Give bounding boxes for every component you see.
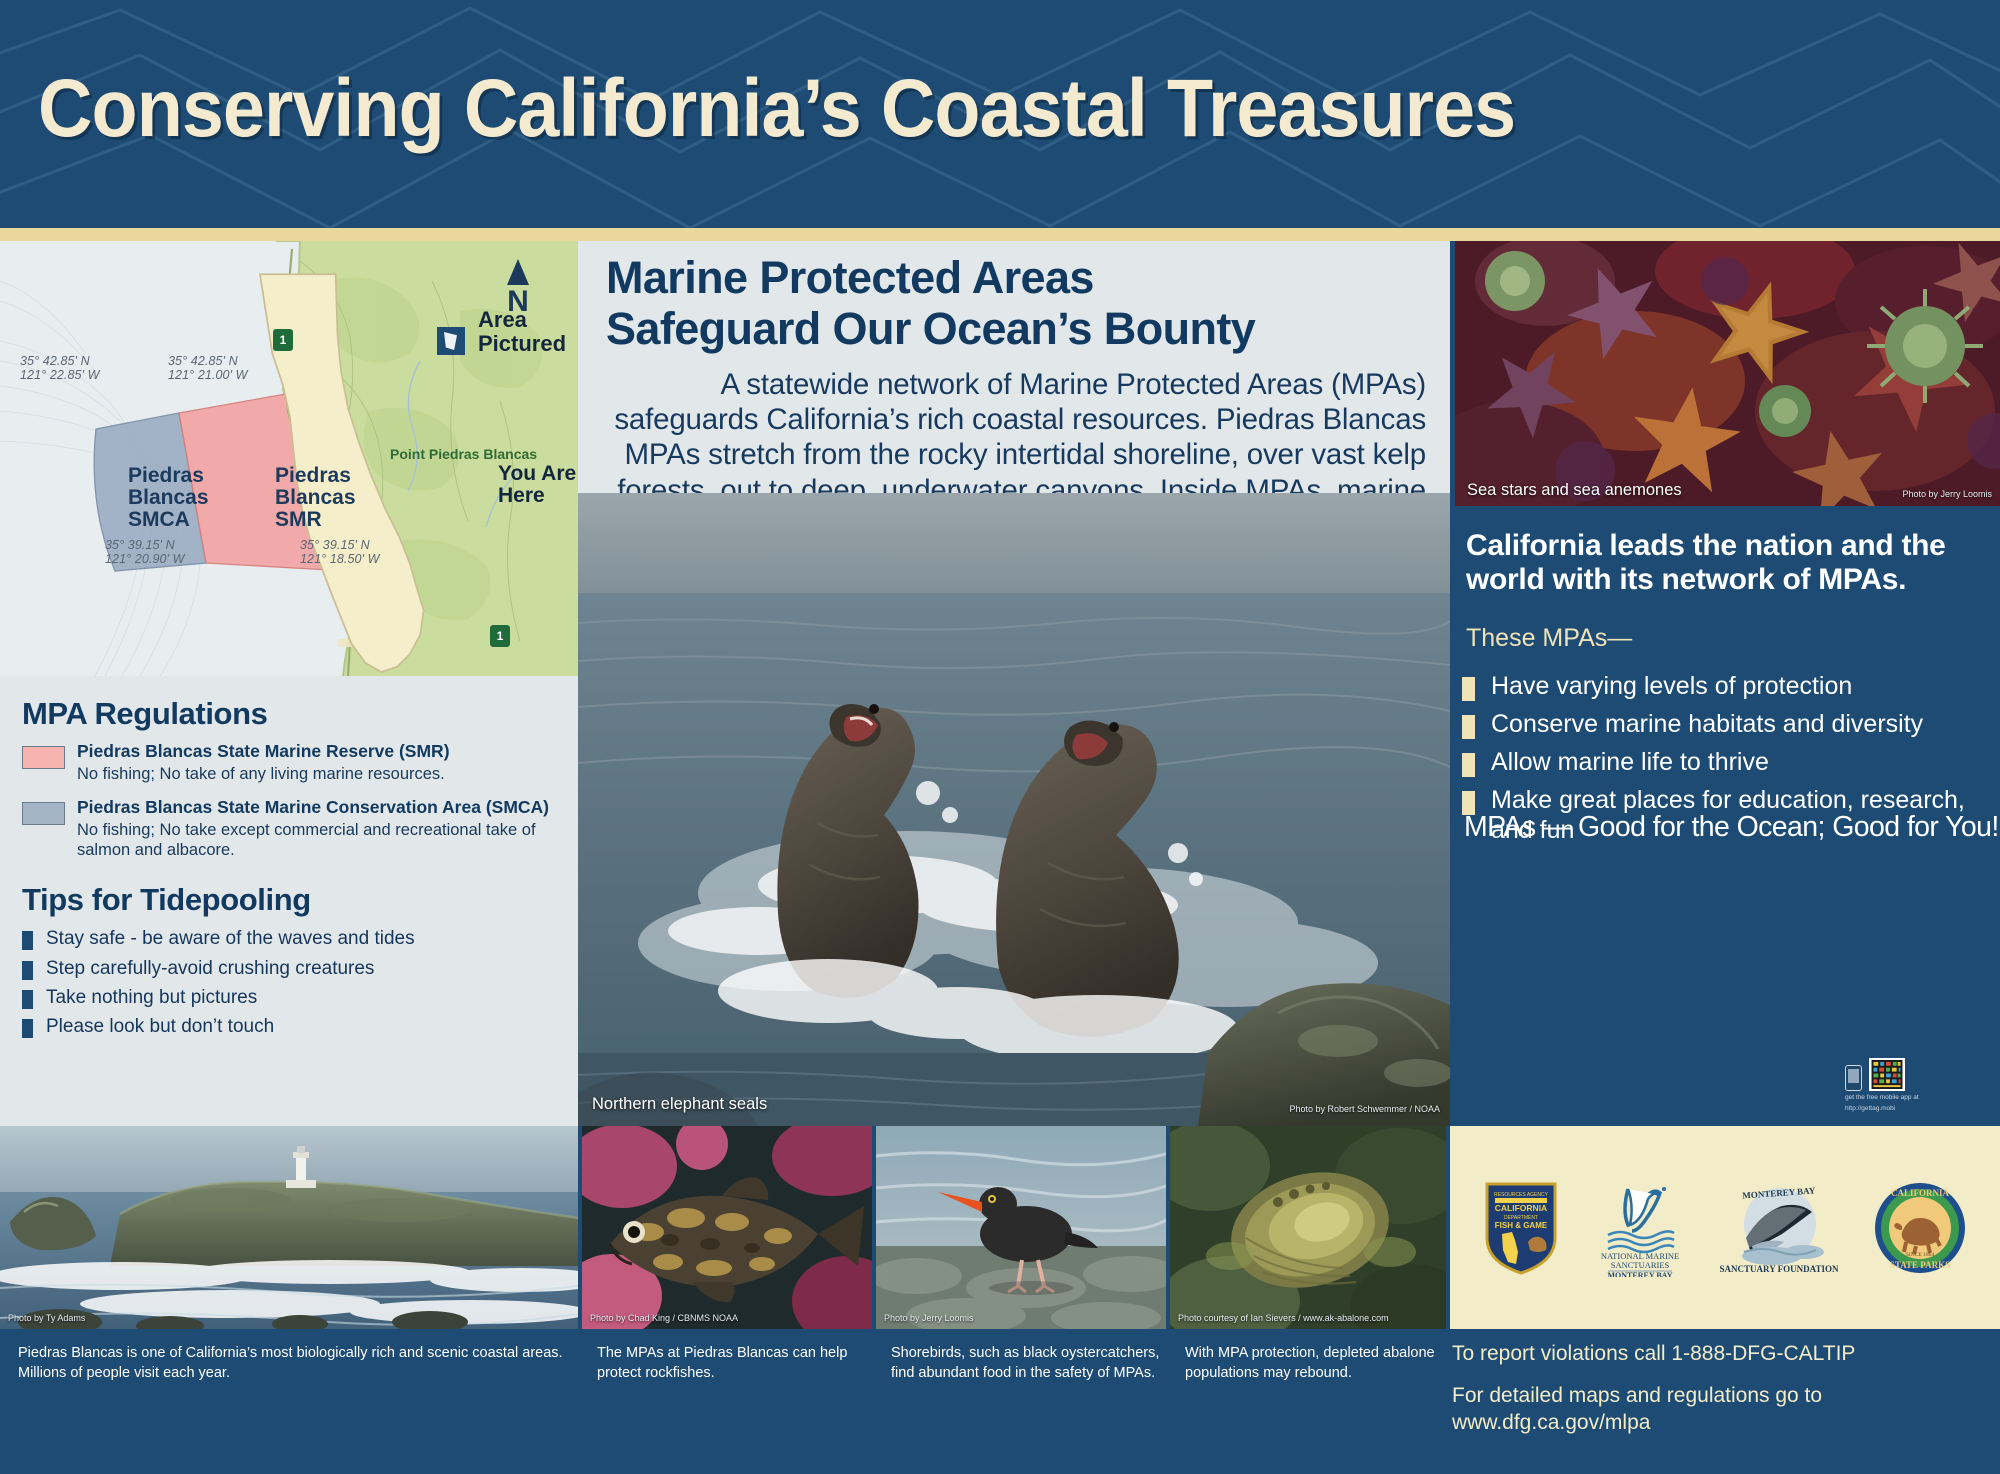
coastline-illustration [0,1126,578,1329]
legend-desc-smca: No fishing; No take except commercial an… [77,820,562,860]
interpretive-sign: Conserving California’s Coastal Treasure… [0,0,2000,1474]
strip-caption: Piedras Blancas is one of California’s m… [18,1343,578,1383]
mpa-benefit-text: Conserve marine habitats and diversity [1491,709,1923,739]
rockfish-photo: Photo by Chad King / CBNMS NOAA [582,1126,872,1329]
elephant-seals-photo: Northern elephant seals Photo by Robert … [578,493,1450,1126]
svg-text:SINCE 1864: SINCE 1864 [1906,1252,1935,1258]
highway-shield-icon: 1 [273,329,293,351]
logo-california-state-parks: CALIFORNIA STATE PARKS SINCE 1864 [1872,1180,1968,1276]
area-pictured-icon [437,327,465,355]
legend-swatch-smca [22,802,65,825]
abalone-credit: Photo courtesy of Ian Sievers / www.ak-a… [1178,1313,1389,1323]
coord-top-right: 35° 42.85' N 121° 21.00' W [168,354,248,383]
elephant-seals-caption: Northern elephant seals [592,1095,767,1114]
north-arrow-icon: N [507,259,529,317]
main-content-area: 1 1 Piedras Blancas SMCA Piedras Blancas… [0,241,2000,1126]
tip-item: Stay safe - be aware of the waves and ti… [22,927,562,950]
north-label: N [507,287,529,317]
ms-tag-qr-code[interactable] [1869,1058,1905,1091]
footer-bar: Piedras Blancas is one of California’s m… [0,1329,2000,1474]
qr-code-graphic [1871,1060,1903,1089]
coord-bottom-left: 35° 39.15' N 121° 20.90' W [105,538,185,567]
right-column: Sea stars and sea anemones Photo by Jerr… [1450,241,2000,1126]
tip-text: Stay safe - be aware of the waves and ti… [46,927,415,950]
qr-instruction-line1: get the free mobile app at [1845,1094,1985,1102]
svg-text:SANCTUARIES: SANCTUARIES [1611,1260,1670,1270]
svg-text:SANCTUARY FOUNDATION: SANCTUARY FOUNDATION [1720,1264,1838,1274]
svg-text:CALIFORNIA: CALIFORNIA [1495,1203,1547,1213]
mpa-benefit-item: Conserve marine habitats and diversity [1462,709,1990,739]
coord-top-left: 35° 42.85' N 121° 22.85' W [20,354,100,383]
location-map[interactable]: 1 1 Piedras Blancas SMCA Piedras Blancas… [0,241,578,676]
mpa-benefit-text: Allow marine life to thrive [1491,747,1769,777]
footer-website-line: For detailed maps and regulations go to … [1452,1383,1992,1436]
square-bullet-icon [1462,715,1475,739]
national-marine-sanctuaries-logo-icon: NATIONAL MARINE SANCTUARIES MONTEREY BAY [1594,1179,1686,1277]
strip-caption: The MPAs at Piedras Blancas can help pro… [597,1343,872,1383]
legend-item-smr: Piedras Blancas State Marine Reserve (SM… [22,741,562,784]
tidepooling-heading: Tips for Tidepooling [22,882,562,918]
logo-cdfg: RESOURCES AGENCY CALIFORNIA DEPARTMENT F… [1482,1180,1560,1276]
sea-stars-photo: Sea stars and sea anemones Photo by Jerr… [1455,241,2000,506]
square-bullet-icon [1462,677,1475,701]
abalone-photo: Photo courtesy of Ian Sievers / www.ak-a… [1170,1126,1446,1329]
elephant-seals-credit: Photo by Robert Schwemmer / NOAA [1289,1104,1440,1114]
svg-text:CALIFORNIA: CALIFORNIA [1891,1188,1950,1198]
mobile-tag-block[interactable]: get the free mobile app at http://gettag… [1845,1058,1985,1113]
right-text-block: California leads the nation and the worl… [1462,529,1990,853]
mpa-benefit-item: Have varying levels of protection [1462,671,1990,701]
square-bullet-icon [22,931,33,950]
map-label-point-piedras-blancas: Point Piedras Blancas [390,446,537,462]
footer-violations-line: To report violations call 1-888-DFG-CALT… [1452,1341,1992,1367]
right-panel-heading: California leads the nation and the worl… [1462,529,1990,597]
svg-text:MONTEREY BAY: MONTEREY BAY [1608,1271,1673,1277]
svg-text:RESOURCES AGENCY: RESOURCES AGENCY [1494,1192,1549,1198]
coastline-photo: Photo by Ty Adams [0,1126,578,1329]
logo-monterey-bay-sanctuary-foundation: MONTEREY BAY SANCTUARY FOUNDATION [1720,1180,1838,1276]
tip-item: Please look but don’t touch [22,1015,562,1038]
svg-text:FISH & GAME: FISH & GAME [1495,1221,1548,1230]
left-column: 1 1 Piedras Blancas SMCA Piedras Blancas… [0,241,578,1126]
strip-caption: Shorebirds, such as black oystercatchers… [891,1343,1166,1383]
tip-item: Take nothing but pictures [22,986,562,1009]
mpa-tagline: MPAs — Good for the Ocean; Good for You! [1464,811,1999,844]
regulations-heading: MPA Regulations [22,696,562,732]
square-bullet-icon [22,990,33,1009]
square-bullet-icon [22,961,33,980]
gold-divider-rule [0,228,2000,241]
header-banner: Conserving California’s Coastal Treasure… [0,0,2000,228]
mpa-benefit-text: Have varying levels of protection [1491,671,1852,701]
oystercatcher-illustration [876,1126,1166,1329]
footer-contact-block: To report violations call 1-888-DFG-CALT… [1452,1341,1992,1452]
tip-text: Please look but don’t touch [46,1015,274,1038]
legend-title-smca: Piedras Blancas State Marine Conservatio… [77,797,562,818]
tip-text: Step carefully-avoid crushing creatures [46,957,374,980]
california-state-parks-logo-icon: CALIFORNIA STATE PARKS SINCE 1864 [1872,1180,1968,1276]
tip-text: Take nothing but pictures [46,986,257,1009]
legend-desc-smr: No fishing; No take of any living marine… [77,764,450,784]
mobile-phone-icon [1845,1065,1862,1091]
center-column: Marine Protected Areas Safeguard Our Oce… [578,241,1450,1126]
page-title: Conserving California’s Coastal Treasure… [38,62,1515,156]
photo-strip: Photo by Ty Adams [0,1126,2000,1329]
highway-shield-icon: 1 [490,625,510,647]
left-text-block: MPA Regulations Piedras Blancas State Ma… [22,696,562,1044]
qr-url-line2: http://gettag.mobi [1845,1105,1985,1113]
mpa-benefit-item: Allow marine life to thrive [1462,747,1990,777]
logo-national-marine-sanctuaries: NATIONAL MARINE SANCTUARIES MONTEREY BAY [1594,1179,1686,1277]
partner-logos-bar: RESOURCES AGENCY CALIFORNIA DEPARTMENT F… [1450,1126,2000,1329]
strip-caption: With MPA protection, depleted abalone po… [1185,1343,1445,1383]
square-bullet-icon [22,1019,33,1038]
square-bullet-icon [1462,753,1475,777]
oystercatcher-credit: Photo by Jerry Loomis [884,1313,974,1323]
sea-stars-illustration [1455,241,2000,506]
sea-stars-credit: Photo by Jerry Loomis [1902,489,1992,499]
elephant-seals-illustration [578,493,1450,1126]
you-are-here-marker: You Are Here [498,463,576,507]
svg-text:STATE PARKS: STATE PARKS [1890,1260,1950,1270]
legend-swatch-smr [22,746,65,769]
main-headline-line1: Marine Protected Areas [606,253,1426,304]
main-headline-line2: Safeguard Our Ocean’s Bounty [606,304,1426,355]
abalone-illustration [1170,1126,1446,1329]
rockfish-credit: Photo by Chad King / CBNMS NOAA [590,1313,738,1323]
coastline-credit: Photo by Ty Adams [8,1313,85,1323]
tip-item: Step carefully-avoid crushing creatures [22,957,562,980]
legend-title-smr: Piedras Blancas State Marine Reserve (SM… [77,741,450,762]
oystercatcher-photo: Photo by Jerry Loomis [876,1126,1166,1329]
coord-bottom-right: 35° 39.15' N 121° 18.50' W [300,538,380,567]
monterey-bay-sanctuary-foundation-logo-icon: MONTEREY BAY SANCTUARY FOUNDATION [1720,1180,1838,1276]
california-fish-game-logo-icon: RESOURCES AGENCY CALIFORNIA DEPARTMENT F… [1482,1180,1560,1276]
sea-stars-caption: Sea stars and sea anemones [1467,481,1682,500]
legend-item-smca: Piedras Blancas State Marine Conservatio… [22,797,562,860]
rockfish-illustration [582,1126,872,1329]
right-panel-intro: These MPAs— [1462,624,1990,653]
